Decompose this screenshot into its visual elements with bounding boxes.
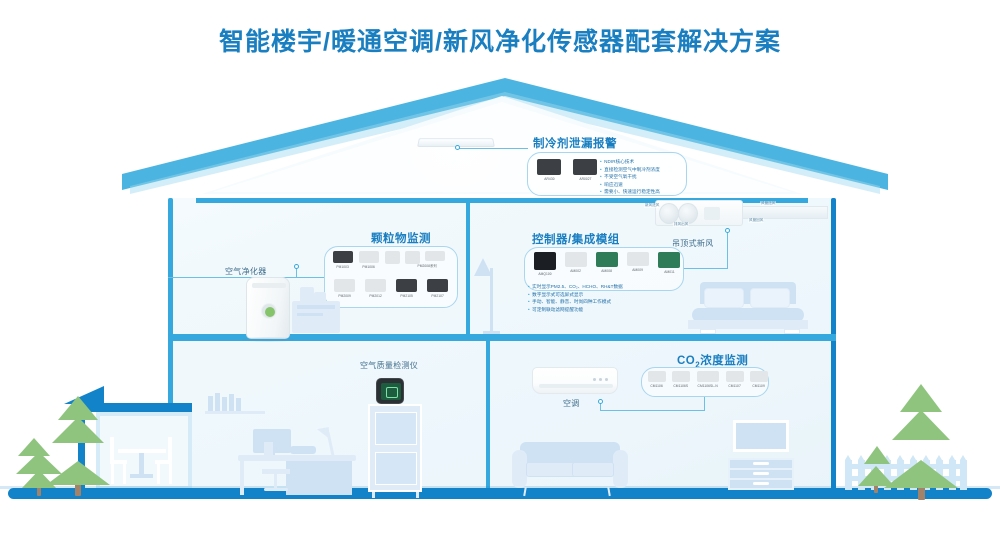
floor-lamp-base — [483, 331, 500, 334]
product-item[interactable]: PM2009 — [330, 279, 359, 298]
section-title-controller: 控制器/集成模组 — [532, 231, 620, 247]
porch-chair-back-left — [110, 437, 114, 462]
leader-dot-purifier — [294, 264, 299, 269]
desk-cup — [264, 442, 273, 455]
micro-label-duct-mid: 风管回风 — [748, 218, 764, 223]
product-item[interactable]: CM1109 — [747, 371, 771, 388]
keyboard — [290, 446, 316, 454]
ac-indicator-lights — [593, 378, 608, 381]
attic-light-glow — [392, 146, 520, 202]
desk-cabinet — [286, 461, 352, 495]
bullets-controller: 实时显示PM2.5、CO₂、HCHO、RH&T数据 数字显示式可选屏式显示 手动… — [528, 283, 623, 313]
product-image-cm1109 — [750, 371, 768, 382]
micro-label-exhaust: 排风出风 — [673, 222, 689, 227]
cabinet-leg-right — [416, 492, 419, 498]
product-item[interactable]: PM1006 — [356, 251, 382, 269]
drawer-handle-3[interactable] — [753, 482, 769, 485]
ac-grille — [539, 384, 613, 388]
product-image-pm2105 — [396, 279, 417, 292]
leader-stem-ac — [600, 403, 601, 411]
interior-wall-upper — [466, 203, 470, 334]
porch-table-base — [130, 474, 153, 478]
air-purifier — [246, 277, 290, 339]
leader-stem-purifier — [296, 268, 297, 277]
bookshelf-shelf — [205, 411, 265, 414]
decor-box — [300, 287, 314, 303]
bed-leg-left — [700, 329, 716, 334]
product-image-am002 — [565, 252, 587, 267]
leader-line-refrigerant — [458, 148, 528, 149]
product-image-pm2008-b — [405, 251, 420, 264]
product-item[interactable]: PM2107 — [423, 279, 452, 298]
tree-large-left — [46, 443, 110, 491]
porch-chair-leg-right — [157, 464, 160, 484]
fresh-air-port-2 — [678, 203, 698, 224]
leader-line-particulate — [168, 277, 324, 278]
product-item[interactable]: CM1106 — [645, 371, 669, 388]
fresh-air-port-1 — [659, 203, 679, 224]
cabinet-panel-bottom — [375, 452, 417, 485]
product-item[interactable]: CM1106SL-N — [693, 371, 723, 388]
product-item[interactable]: AM002 — [561, 252, 591, 276]
label-air-quality-detector: 空气质量检测仪 — [360, 360, 418, 371]
side-cabinet-shelf — [297, 305, 335, 309]
book — [222, 397, 227, 411]
leader-line-co2 — [600, 410, 705, 411]
sofa-arm-right — [613, 450, 628, 488]
book — [236, 398, 241, 411]
product-item[interactable]: AMQ100 — [530, 252, 560, 276]
leader-stem-controller — [727, 232, 728, 268]
storage-cabinet — [368, 404, 422, 492]
book — [229, 394, 234, 411]
product-item[interactable]: AR0027 — [570, 159, 600, 181]
label-air-conditioner: 空调 — [563, 398, 580, 409]
leader-dot-ac — [598, 399, 603, 404]
book — [208, 396, 213, 411]
product-image-pm2009 — [334, 279, 355, 292]
infographic-canvas: 智能楼宇/暖通空调/新风净化传感器配套解决方案 — [0, 0, 1000, 540]
product-list-particulate-row1: PM1003 PM1006 PM2008系列 — [330, 251, 448, 269]
fresh-air-panel — [704, 207, 720, 220]
bed-pillow-left — [704, 288, 744, 308]
fresh-air-unit — [655, 200, 743, 226]
section-title-particulate: 颗粒物监测 — [371, 230, 431, 246]
tree-large-right-top — [900, 384, 942, 416]
tree-large-right — [884, 440, 958, 492]
bed-base — [688, 320, 808, 329]
product-item[interactable] — [382, 251, 402, 269]
side-cabinet-shelf2 — [297, 313, 323, 316]
product-item[interactable]: CM1107 — [723, 371, 747, 388]
tree-large-left-top — [58, 396, 98, 424]
leader-dot-controller — [725, 228, 730, 233]
porch-chair-back-right — [168, 437, 172, 462]
sofa-cushion-right — [572, 462, 614, 477]
bed-leg-right — [784, 329, 800, 334]
product-list-refrigerant: AR430 AR0027 — [534, 159, 600, 181]
product-image-pm2012 — [365, 279, 386, 292]
porch-table-pole — [139, 453, 144, 475]
product-item[interactable]: PM1003 — [330, 251, 356, 269]
detector-screen — [381, 383, 401, 400]
floor-lamp-pole — [490, 268, 493, 334]
drawer-handle-2[interactable] — [753, 472, 769, 475]
book — [215, 393, 220, 411]
decor-box2 — [314, 292, 326, 303]
product-item[interactable]: AM008 — [592, 252, 622, 276]
product-image-pm2008-a — [385, 251, 400, 264]
product-image-pm1006 — [359, 251, 379, 263]
product-image-cm1107 — [726, 371, 744, 382]
product-item[interactable]: AR430 — [534, 159, 564, 181]
product-image-ar0027 — [573, 159, 597, 175]
leader-dot-refrigerant — [455, 145, 460, 150]
product-item[interactable]: PM2012 — [361, 279, 390, 298]
tree-small-right-top — [864, 446, 890, 466]
product-item[interactable]: AM009 — [623, 252, 653, 276]
office-chair-base — [264, 488, 288, 491]
micro-label-duct-top: 风管送风 — [760, 201, 776, 206]
micro-label-intake: 新风进风 — [644, 203, 660, 208]
product-list-co2: CM1106 CM1106S CM1106SL-N CM1107 CM1109 — [645, 371, 771, 388]
product-image-ar430 — [537, 159, 561, 175]
drawer-unit — [728, 458, 794, 490]
interior-wall-lower — [486, 341, 490, 490]
product-item[interactable]: PM2008系列 — [422, 251, 448, 269]
leader-line-controller — [684, 268, 728, 269]
tv-screen — [733, 420, 789, 452]
porch-chair-leg-left2 — [123, 464, 126, 484]
product-item[interactable]: PM2105 — [392, 279, 421, 298]
purifier-vent — [252, 283, 286, 288]
product-image-am009 — [627, 252, 649, 266]
wall-right — [831, 198, 836, 490]
product-image-cm1106s — [672, 371, 690, 382]
label-fresh-air: 吊顶式新风 — [672, 238, 714, 249]
product-image-cm1106sl-n — [697, 371, 719, 382]
section-title-refrigerant: 制冷剂泄漏报警 — [533, 135, 617, 151]
product-image-pm1003 — [333, 251, 353, 263]
cabinet-leg-left — [372, 492, 375, 498]
product-image-am011 — [658, 252, 680, 268]
porch-chair-leg-left — [111, 464, 114, 484]
bed-pillow-right — [750, 288, 790, 308]
air-quality-detector — [376, 378, 404, 404]
product-image-amq100 — [534, 252, 556, 270]
product-image-pm2008-c — [425, 251, 445, 261]
air-conditioner — [532, 367, 618, 394]
purifier-display — [261, 303, 277, 319]
product-list-controller: AMQ100 AM002 AM008 AM009 AM011 — [530, 252, 684, 276]
product-list-particulate-row2: PM2009 PM2012 PM2105 PM2107 — [330, 279, 452, 298]
page-title: 智能楼宇/暖通空调/新风净化传感器配套解决方案 — [0, 22, 1000, 58]
label-air-purifier: 空气净化器 — [225, 266, 267, 277]
sofa-arm-left — [512, 450, 527, 488]
purifier-shadow — [242, 337, 294, 342]
product-item[interactable]: CM1106S — [669, 371, 693, 388]
leader-stem-co2 — [704, 397, 705, 410]
drawer-handle-1[interactable] — [753, 462, 769, 465]
desk-leg-left — [240, 461, 244, 495]
bullets-refrigerant: NDIR核心技术 直接检测空气中制冷剂浓度 不受空气氧干扰 响应迅速 需要小、快… — [600, 158, 660, 196]
cabinet-panel-top — [375, 412, 417, 445]
porch-chair-leg-right2 — [169, 464, 172, 484]
product-item[interactable]: AM011 — [654, 252, 684, 276]
product-image-am008 — [596, 252, 618, 267]
product-image-pm2107 — [427, 279, 448, 292]
sofa-backrest — [520, 442, 620, 464]
product-image-cm1106 — [648, 371, 666, 382]
